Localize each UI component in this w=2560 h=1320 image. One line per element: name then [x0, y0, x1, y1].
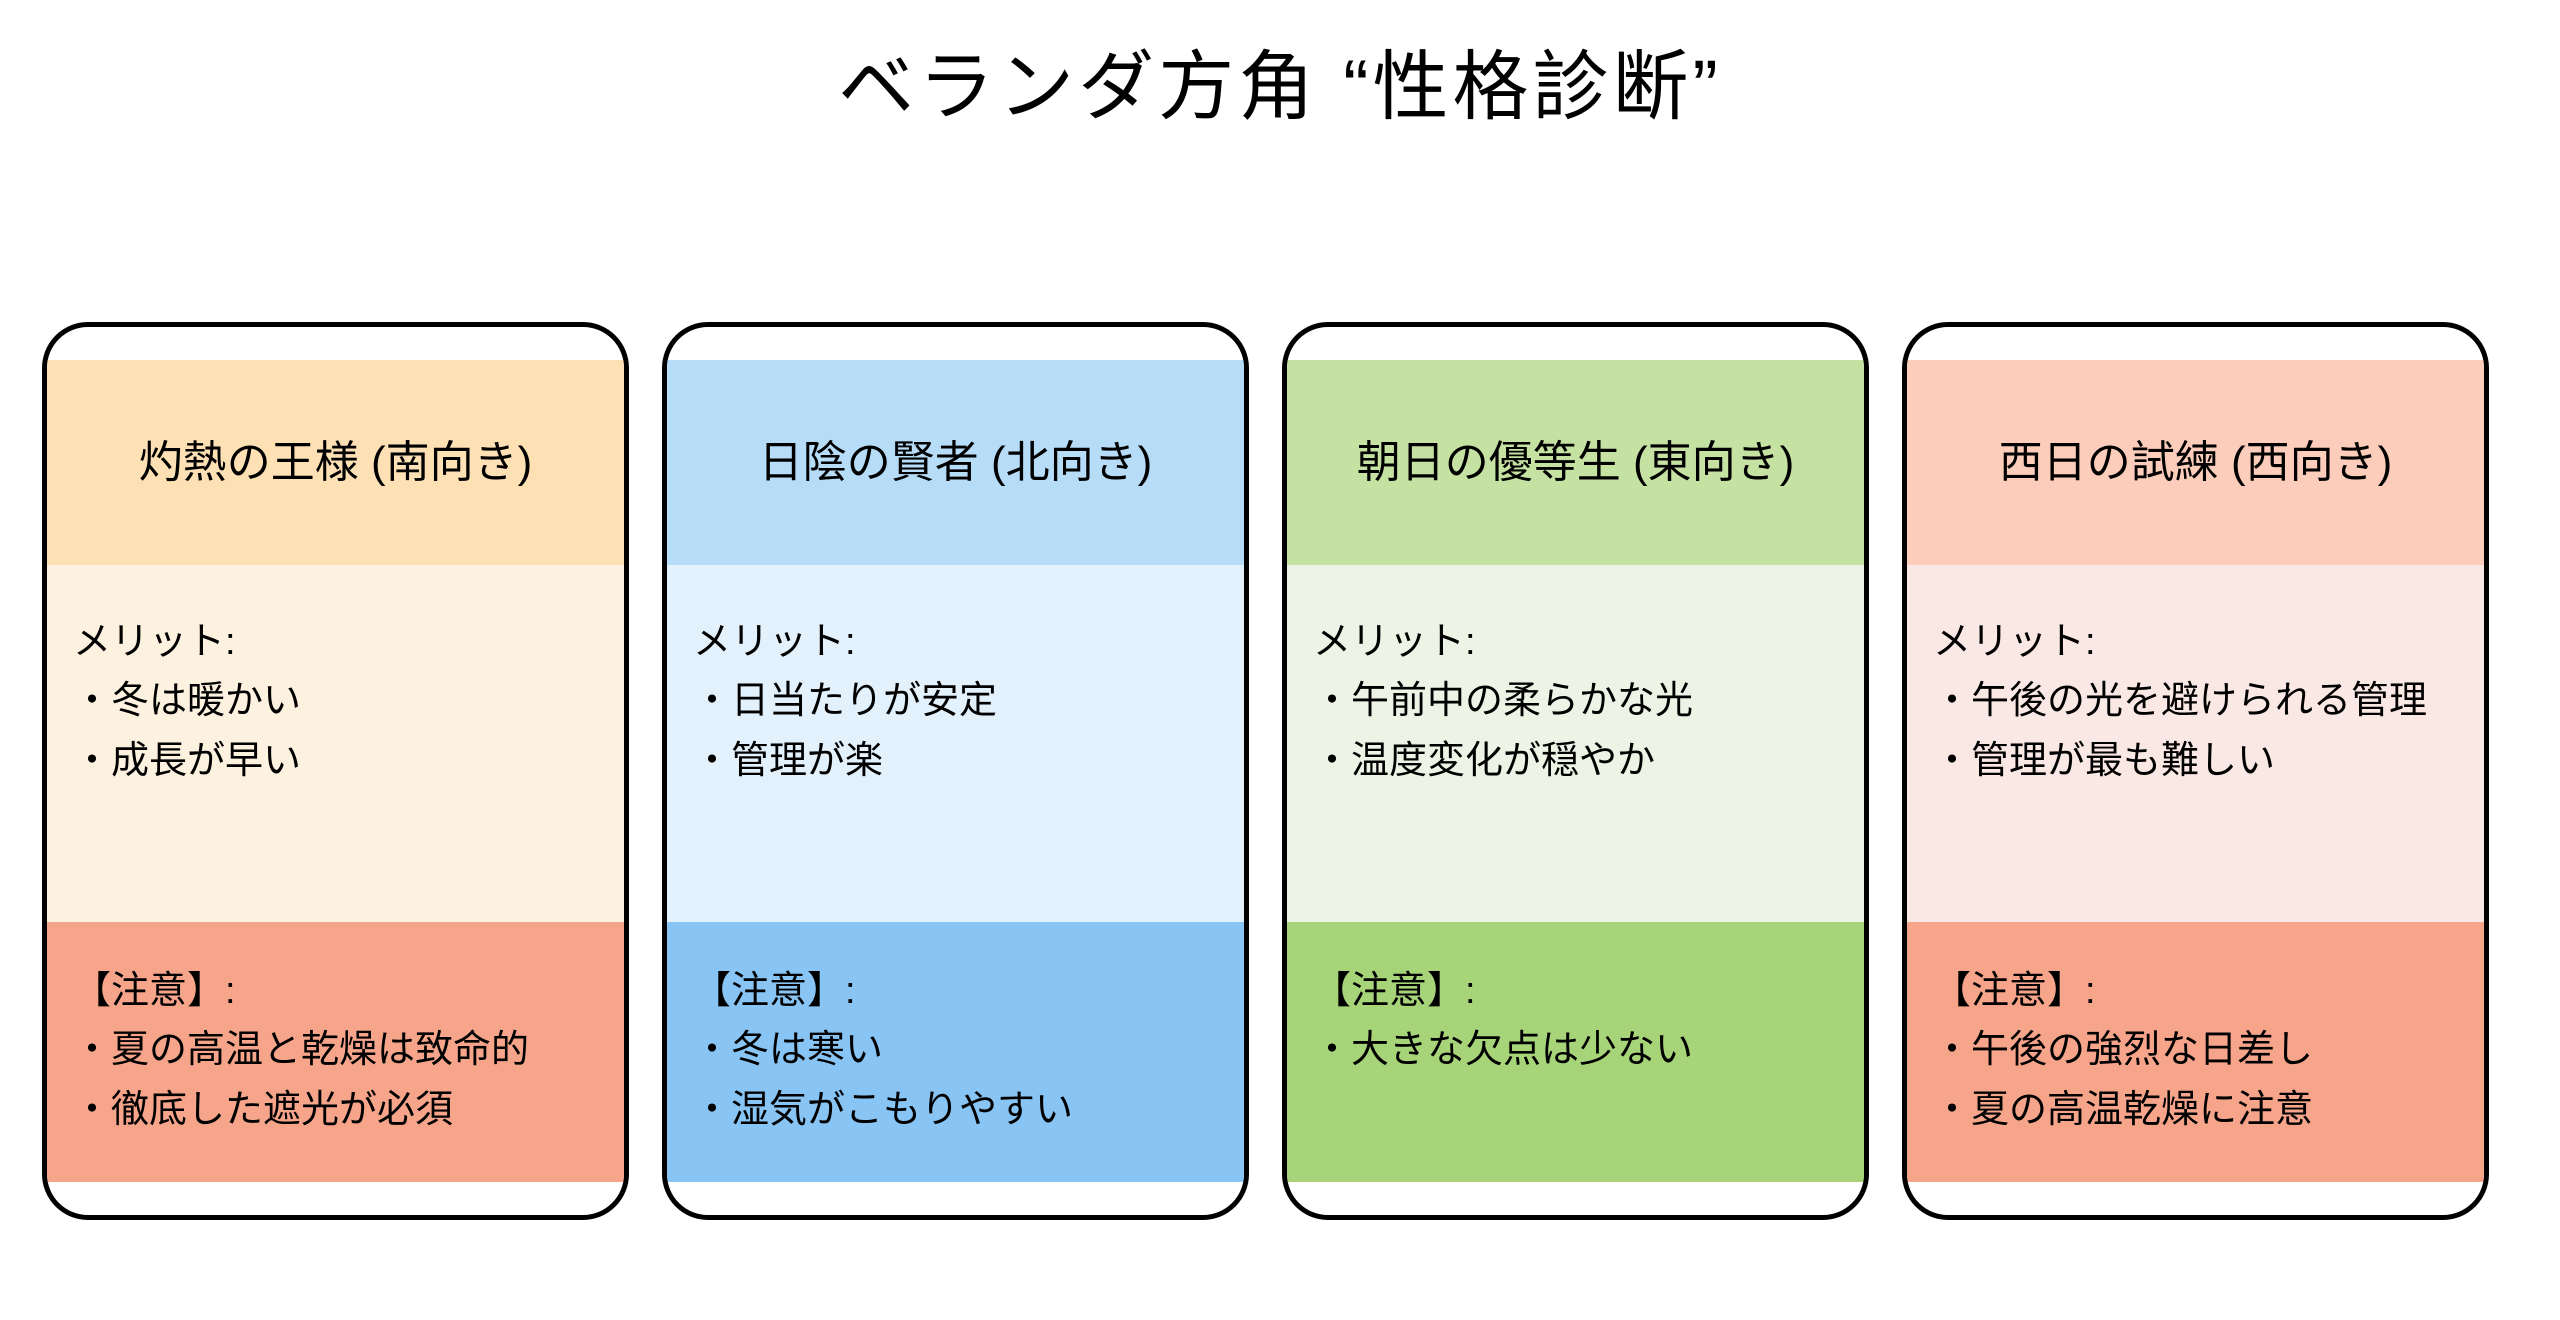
card-body-north: メリット: ・日当たりが安定 ・管理が楽	[667, 565, 1244, 922]
merits-label-north: メリット:	[693, 613, 1244, 672]
card-body-east: メリット: ・午前中の柔らかな光 ・温度変化が穏やか	[1287, 565, 1864, 922]
warning-item-north-1: ・冬は寒い	[693, 1021, 1244, 1080]
card-body-west: メリット: ・午後の光を避けられる管理 ・管理が最も難しい	[1907, 565, 2484, 922]
page-title: ベランダ方角 “性格診断”	[0, 0, 2560, 160]
card-body-south: メリット: ・冬は暖かい ・成長が早い	[47, 565, 624, 922]
warning-item-south-2: ・徹底した遮光が必須	[73, 1081, 624, 1140]
merit-item-north-2: ・管理が楽	[693, 732, 1244, 791]
warning-item-west-2: ・夏の高温乾燥に注意	[1933, 1081, 2484, 1140]
card-north: 日陰の賢者 (北向き) メリット: ・日当たりが安定 ・管理が楽 【注意】: ・…	[662, 322, 1249, 1220]
warning-label-east: 【注意】:	[1313, 962, 1864, 1021]
card-warning-west: 【注意】: ・午後の強烈な日差し ・夏の高温乾燥に注意	[1907, 922, 2484, 1182]
merits-label-west: メリット:	[1933, 613, 2484, 672]
merit-item-north-1: ・日当たりが安定	[693, 672, 1244, 731]
warning-item-north-2: ・湿気がこもりやすい	[693, 1081, 1244, 1140]
merits-label-east: メリット:	[1313, 613, 1864, 672]
merit-item-west-2: ・管理が最も難しい	[1933, 732, 2484, 791]
merit-item-south-2: ・成長が早い	[73, 732, 624, 791]
merit-item-south-1: ・冬は暖かい	[73, 672, 624, 731]
card-warning-south: 【注意】: ・夏の高温と乾燥は致命的 ・徹底した遮光が必須	[47, 922, 624, 1182]
card-header-west: 西日の試練 (西向き)	[1907, 360, 2484, 565]
warning-label-south: 【注意】:	[73, 962, 624, 1021]
card-header-south: 灼熱の王様 (南向き)	[47, 360, 624, 565]
card-header-north: 日陰の賢者 (北向き)	[667, 360, 1244, 565]
merit-item-west-1: ・午後の光を避けられる管理	[1933, 672, 2484, 731]
warning-label-west: 【注意】:	[1933, 962, 2484, 1021]
card-south: 灼熱の王様 (南向き) メリット: ・冬は暖かい ・成長が早い 【注意】: ・夏…	[42, 322, 629, 1220]
card-row: 灼熱の王様 (南向き) メリット: ・冬は暖かい ・成長が早い 【注意】: ・夏…	[42, 322, 2522, 1232]
card-west: 西日の試練 (西向き) メリット: ・午後の光を避けられる管理 ・管理が最も難し…	[1902, 322, 2489, 1220]
card-warning-north: 【注意】: ・冬は寒い ・湿気がこもりやすい	[667, 922, 1244, 1182]
card-east: 朝日の優等生 (東向き) メリット: ・午前中の柔らかな光 ・温度変化が穏やか …	[1282, 322, 1869, 1220]
warning-label-north: 【注意】:	[693, 962, 1244, 1021]
card-header-east: 朝日の優等生 (東向き)	[1287, 360, 1864, 565]
merit-item-east-1: ・午前中の柔らかな光	[1313, 672, 1864, 731]
warning-item-west-1: ・午後の強烈な日差し	[1933, 1021, 2484, 1080]
warning-item-south-1: ・夏の高温と乾燥は致命的	[73, 1021, 624, 1080]
warning-item-east-1: ・大きな欠点は少ない	[1313, 1021, 1864, 1080]
card-warning-east: 【注意】: ・大きな欠点は少ない	[1287, 922, 1864, 1182]
merits-label-south: メリット:	[73, 613, 624, 672]
merit-item-east-2: ・温度変化が穏やか	[1313, 732, 1864, 791]
